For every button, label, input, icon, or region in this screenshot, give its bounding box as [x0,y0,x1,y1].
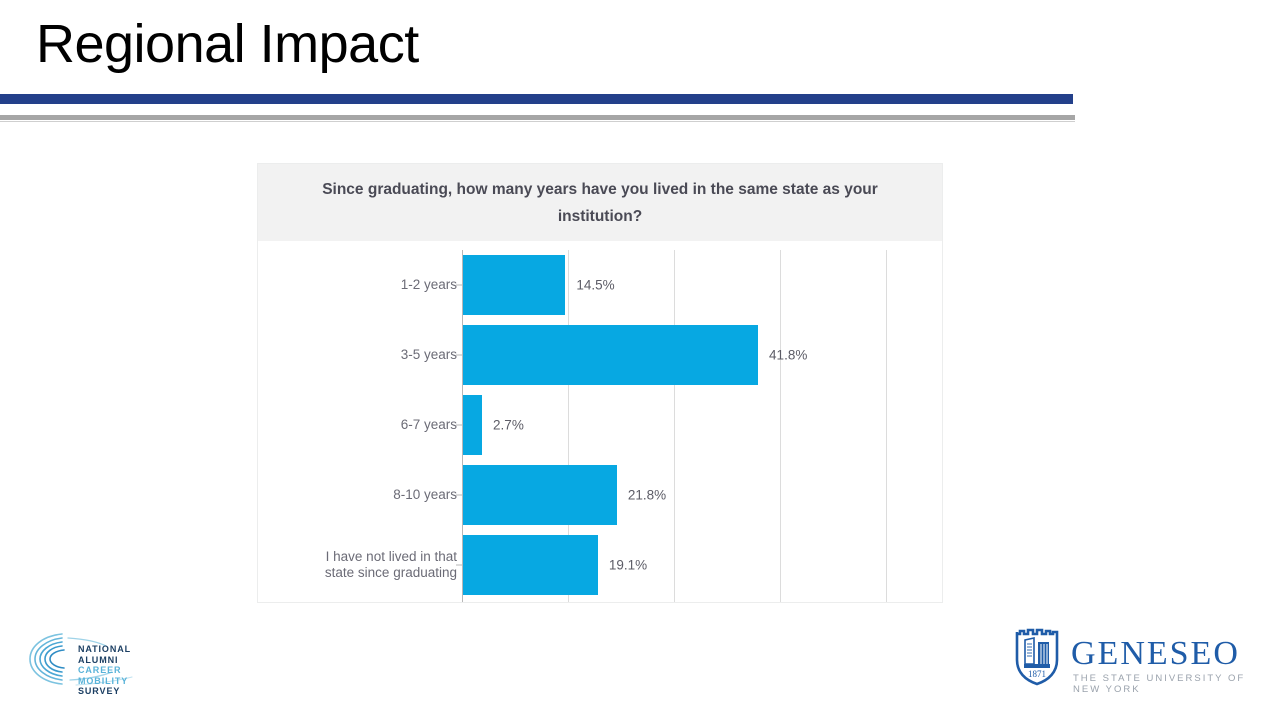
chart-header: Since graduating, how many years have yo… [258,164,942,241]
bar-value-label: 14.5% [576,278,614,293]
chart-bar-row: 3-5 years41.8% [258,320,942,390]
nacm-line2-light: CAREER [78,665,121,675]
chart-bar[interactable] [463,255,565,315]
axis-tick [456,565,463,566]
bar-value-label: 19.1% [609,558,647,573]
axis-tick [456,285,463,286]
geneseo-wordmark: GENESEO [1071,637,1240,671]
axis-tick [456,495,463,496]
geneseo-shield-icon: 1871 [1013,628,1061,686]
divider-gray-hairline [0,121,1075,122]
national-alumni-career-mobility-survey-logo: NATIONAL ALUMNI CAREER MOBILITY SURVEY [28,630,163,688]
geneseo-shield-year: 1871 [1028,669,1046,679]
axis-tick [456,425,463,426]
nacm-line3-dark: SURVEY [78,686,120,696]
geneseo-tagline: THE STATE UNIVERSITY OF NEW YORK [1073,673,1253,695]
bar-category-label: I have not lived in that state since gra… [277,549,457,581]
divider-gray [0,115,1075,120]
nacm-wordmark: NATIONAL ALUMNI CAREER MOBILITY SURVEY [78,644,163,697]
bar-value-label: 2.7% [493,418,524,433]
chart-title: Since graduating, how many years have yo… [285,176,915,230]
bar-value-label: 21.8% [628,488,666,503]
bar-category-label: 1-2 years [277,277,457,293]
chart-bar[interactable] [463,395,482,455]
chart-bar[interactable] [463,465,617,525]
chart-bar[interactable] [463,535,598,595]
chart-bar-row: 1-2 years14.5% [258,250,942,320]
chart-plot-area: 1-2 years14.5%3-5 years41.8%6-7 years2.7… [258,241,942,603]
axis-tick [456,355,463,356]
bar-category-label: 3-5 years [277,347,457,363]
bar-category-label: 8-10 years [277,487,457,503]
nacm-line1: NATIONAL [78,644,131,654]
chart-bar-row: 6-7 years2.7% [258,390,942,460]
nacm-line2-dark: ALUMNI [78,655,118,665]
geneseo-logo: 1871 GENESEO THE STATE UNIVERSITY OF NEW… [1013,628,1253,690]
bar-category-label: 6-7 years [277,417,457,433]
nacm-line3-light: MOBILITY [78,676,128,686]
chart-bar-row: I have not lived in that state since gra… [258,530,942,600]
chart-bar[interactable] [463,325,758,385]
page-title: Regional Impact [36,8,419,80]
chart-panel: Since graduating, how many years have yo… [257,163,943,603]
bar-value-label: 41.8% [769,348,807,363]
chart-bar-row: 8-10 years21.8% [258,460,942,530]
divider-blue [0,94,1073,104]
